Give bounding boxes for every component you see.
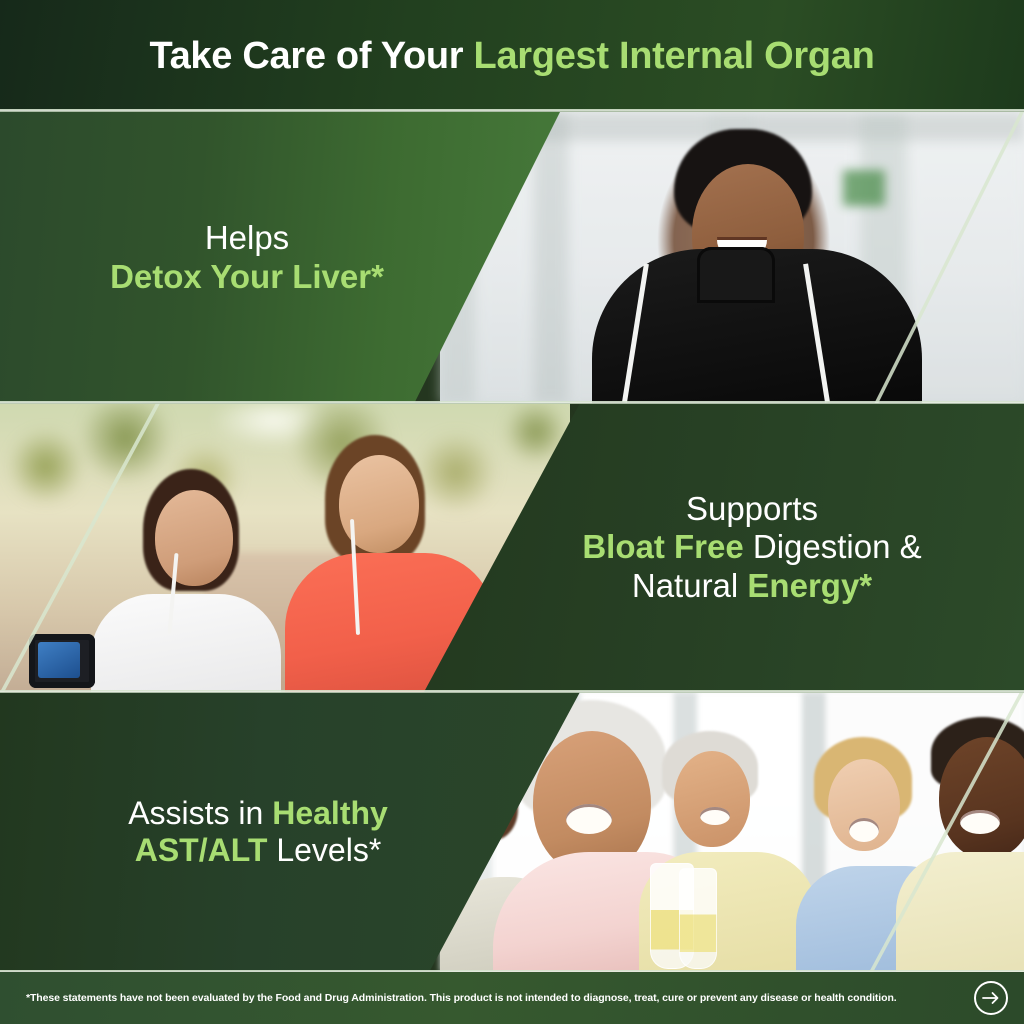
page-title: Take Care of Your Largest Internal Organ xyxy=(150,35,875,78)
woman-a-face xyxy=(155,490,233,586)
arrow-right-icon xyxy=(982,991,1000,1005)
fda-disclaimer-text: *These statements have not been evaluate… xyxy=(0,992,974,1004)
benefit-3-line-1-green: Healthy xyxy=(272,795,388,831)
separator-header-panel1 xyxy=(0,109,1024,112)
senior-e-cream-polo xyxy=(896,852,1024,972)
benefit-3-line-2-white: Levels* xyxy=(267,832,381,868)
benefit-1-text: Helps Detox Your Liver* xyxy=(42,219,452,296)
next-slide-button[interactable] xyxy=(974,981,1008,1015)
benefit-2-line-2: Bloat Free Digestion & xyxy=(512,528,992,566)
senior-d-laughing-mouth xyxy=(849,818,879,842)
benefit-panel-ast-alt-levels: Assists in Healthy AST/ALT Levels* xyxy=(0,692,1024,972)
page-title-green-part: Largest Internal Organ xyxy=(474,35,875,77)
separator-panel2-panel3 xyxy=(0,690,1024,693)
gym-green-sign xyxy=(843,170,885,206)
benefit-2-line-1: Supports xyxy=(512,490,992,528)
benefit-2-text: Supports Bloat Free Digestion & Natural … xyxy=(512,490,992,605)
woman-a-white-tank-top xyxy=(91,594,281,692)
benefit-2-line-3: Natural Energy* xyxy=(512,567,992,605)
poster-header: Take Care of Your Largest Internal Organ xyxy=(0,0,1024,112)
benefit-2-line-2-green: Bloat Free xyxy=(582,528,743,565)
benefit-3-text: Assists in Healthy AST/ALT Levels* xyxy=(58,795,458,869)
liver-supplement-benefits-poster: Take Care of Your Largest Internal Organ… xyxy=(0,0,1024,1024)
benefit-1-line-1: Helps xyxy=(42,219,452,257)
senior-b-laughing-mouth xyxy=(566,804,612,834)
benefit-2-line-2-white: Digestion & xyxy=(744,528,922,565)
benefit-3-line-2: AST/ALT Levels* xyxy=(58,832,458,869)
senior-e-face xyxy=(939,737,1024,859)
senior-e-laughing-mouth xyxy=(960,810,1000,834)
benefit-2-line-3-green: Energy* xyxy=(747,567,872,604)
footer-disclaimer-bar: *These statements have not been evaluate… xyxy=(0,972,1024,1024)
phone-armband xyxy=(29,634,95,688)
page-title-white-part: Take Care of Your xyxy=(150,35,474,77)
benefit-3-line-1-white: Assists in xyxy=(128,795,272,831)
benefit-3-line-2-green: AST/ALT xyxy=(135,832,268,868)
jacket-collar xyxy=(697,247,775,303)
benefit-panel-bloat-free-digestion: Supports Bloat Free Digestion & Natural … xyxy=(0,403,1024,692)
benefit-3-line-1: Assists in Healthy xyxy=(58,795,458,832)
benefit-panel-detox-liver: Helps Detox Your Liver* xyxy=(0,112,1024,403)
separator-panel1-panel2 xyxy=(0,401,1024,404)
senior-c-face xyxy=(674,751,750,847)
benefit-1-line-2: Detox Your Liver* xyxy=(42,258,452,296)
senior-c-laughing-mouth xyxy=(700,807,730,825)
benefit-2-line-3-white: Natural xyxy=(632,567,748,604)
wine-glass-back xyxy=(679,868,717,969)
